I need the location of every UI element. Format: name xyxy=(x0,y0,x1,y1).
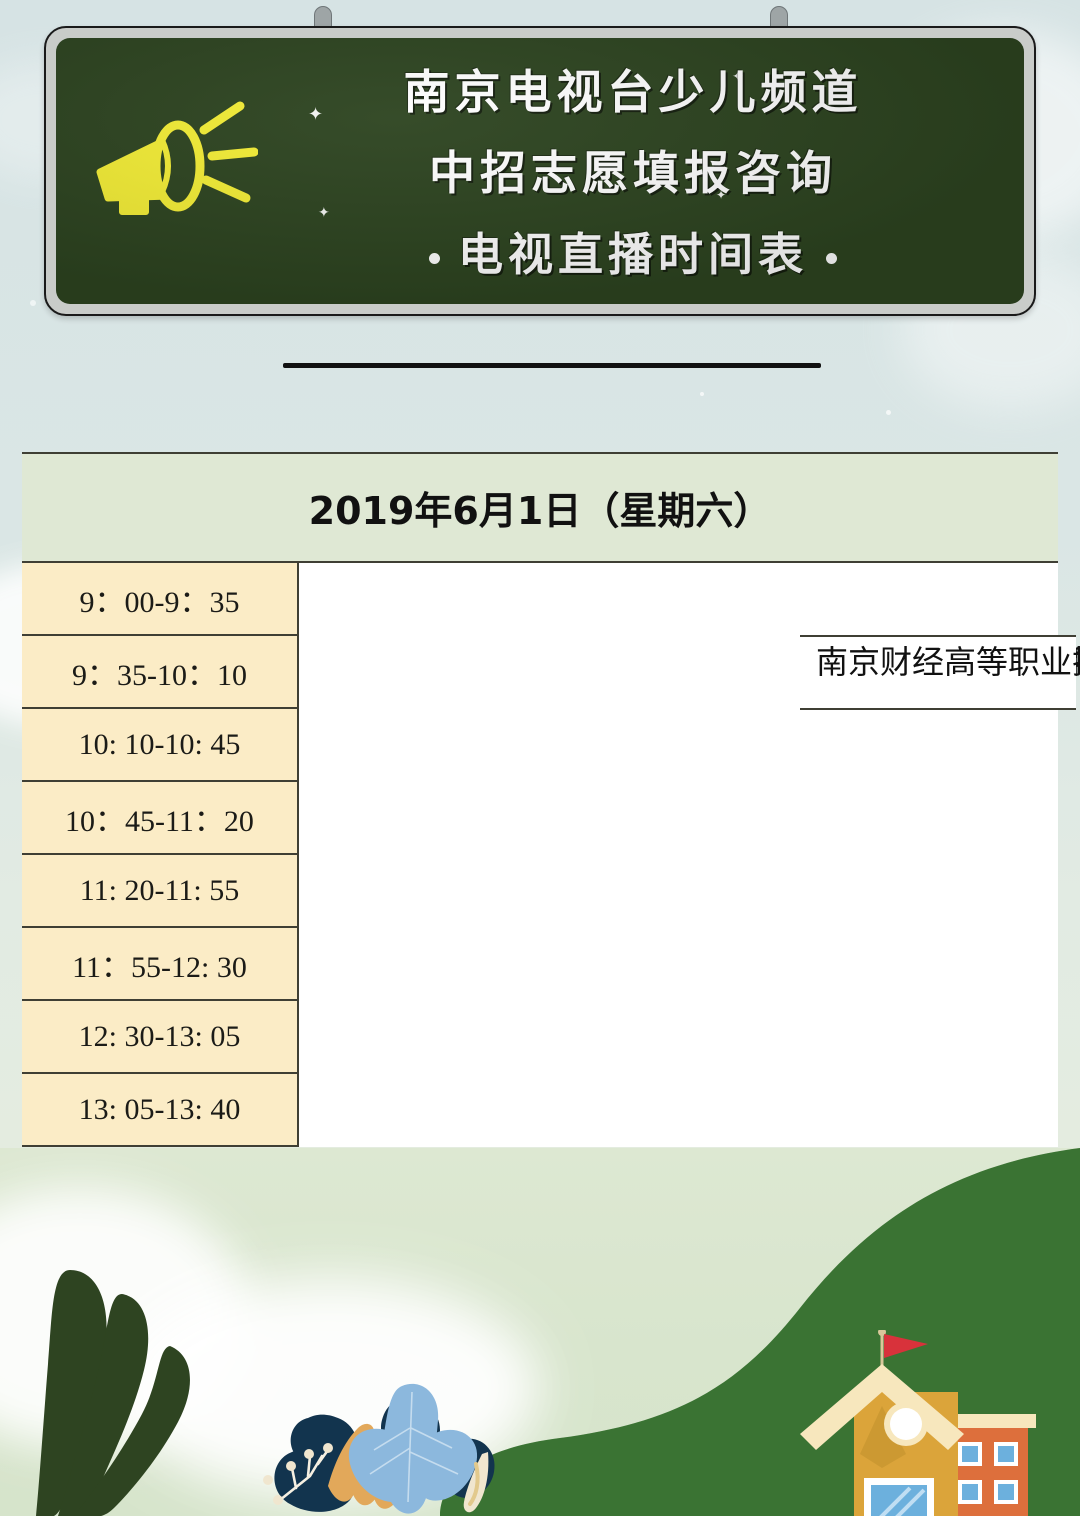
schedule-time-cell: 12: 30-13: 05 xyxy=(22,1000,298,1073)
title-line-1: 南京电视台少儿频道 xyxy=(256,52,1010,133)
title-line-3: 电视直播时间表 xyxy=(458,228,808,281)
broadcast-schedule-table: 2019年6月1日（星期六） 9：00-9：35南京市第十三中学9：35-10：… xyxy=(22,452,1058,1147)
title-bullet-right-icon xyxy=(826,253,837,264)
table-row: 13: 05-13: 40南京财经高等职业技术学校 xyxy=(22,1073,1058,1146)
blackboard-title-block: 南京电视台少儿频道 中招志愿填报咨询 电视直播时间表 xyxy=(256,52,1010,295)
schedule-date-header: 2019年6月1日（星期六） xyxy=(22,453,1058,562)
blackboard-surface: ✦ ✦ ✦ ✦ 南京电视台少儿频道 中招志愿填报咨询 电视直播时间表 xyxy=(56,38,1024,304)
sparkle-icon: ✦ xyxy=(308,104,323,125)
schedule-time-cell: 10: 10-10: 45 xyxy=(22,708,298,781)
red-flag-icon xyxy=(884,1334,928,1358)
speck xyxy=(700,392,704,396)
schedule-time-cell: 9：35-10：10 xyxy=(22,635,298,708)
schedule-time-cell: 11: 20-11: 55 xyxy=(22,854,298,927)
table-row: 9：00-9：35南京市第十三中学 xyxy=(22,562,1058,635)
speck xyxy=(886,410,891,415)
title-bullet-left-icon xyxy=(429,253,440,264)
schedule-time-cell: 10：45-11：20 xyxy=(22,781,298,854)
schedule-time-cell: 9：00-9：35 xyxy=(22,562,298,635)
megaphone-icon xyxy=(78,86,258,226)
table-row: 11：55-12: 30南京高等职业技术学校 xyxy=(22,927,1058,1000)
table-row: 12: 30-13: 05南京卫生高等职业技术学校 xyxy=(22,1000,1058,1073)
schedule-time-cell: 13: 05-13: 40 xyxy=(22,1073,298,1146)
school-building-icon xyxy=(778,1330,1038,1516)
title-line-2: 中招志愿填报咨询 xyxy=(256,133,1010,214)
section-divider xyxy=(283,363,821,368)
sparkle-icon: ✦ xyxy=(716,188,726,202)
speck xyxy=(30,300,36,306)
table-row: 11: 20-11: 55南京市第六十六中学 xyxy=(22,854,1058,927)
headline-blackboard: ✦ ✦ ✦ ✦ 南京电视台少儿频道 中招志愿填报咨询 电视直播时间表 xyxy=(44,26,1036,316)
dark-green-leaf-icon xyxy=(18,1264,208,1516)
bottom-illustration xyxy=(0,1148,1080,1516)
schedule-time-cell: 11：55-12: 30 xyxy=(22,927,298,1000)
table-header-row: 2019年6月1日（星期六） xyxy=(22,453,1058,562)
table-row: 10：45-11：20南京市板桥中学 xyxy=(22,781,1058,854)
sparkle-icon: ✦ xyxy=(732,68,744,85)
sparkle-icon: ✦ xyxy=(318,204,330,221)
title-line-3-wrapper: 电视直播时间表 xyxy=(256,214,1010,295)
schedule-school-cell: 南京财经高等职业技术学校 xyxy=(800,635,1076,710)
table-row: 10: 10-10: 45南京大学附属中学 xyxy=(22,708,1058,781)
blue-flower-icon xyxy=(262,1368,512,1516)
